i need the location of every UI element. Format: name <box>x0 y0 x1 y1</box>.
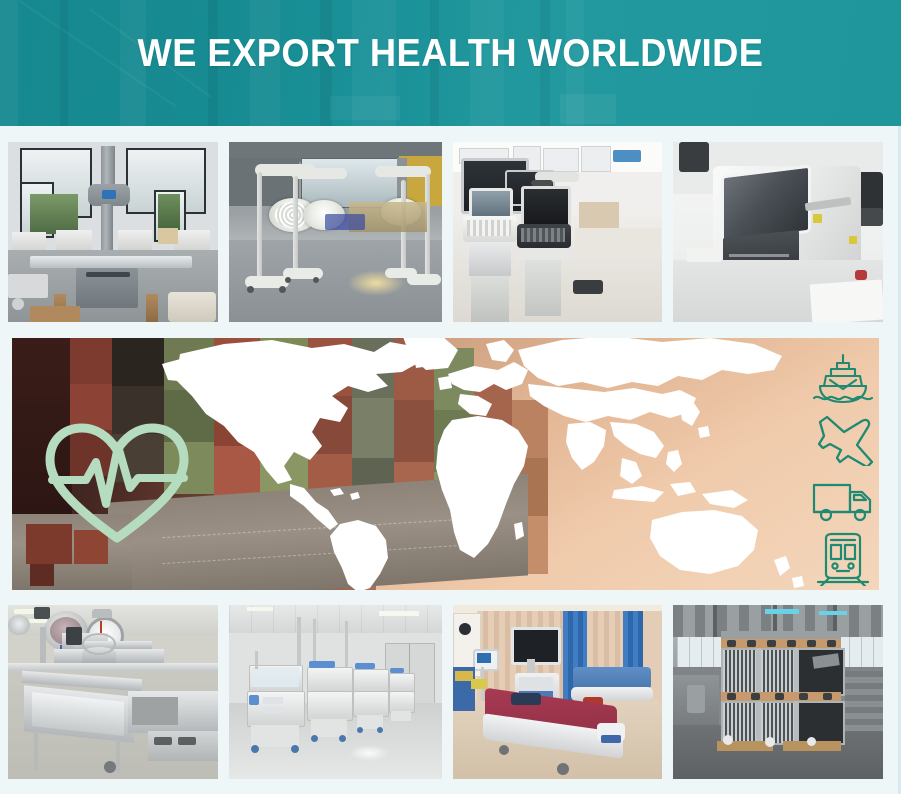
photo-image <box>673 605 883 779</box>
gallery-row-top <box>8 142 893 322</box>
heart-pulse-icon <box>42 420 192 545</box>
photo-image <box>453 605 662 779</box>
ship-icon[interactable] <box>810 352 876 406</box>
airplane-icon[interactable] <box>810 412 876 466</box>
product-detail-page: WE EXPORT HEALTH WORLDWIDE <box>0 0 901 794</box>
gallery-row-bottom <box>8 605 893 779</box>
page-title: WE EXPORT HEALTH WORLDWIDE <box>32 31 870 77</box>
photo-image <box>8 142 218 322</box>
photo-image <box>229 605 442 779</box>
page-header: WE EXPORT HEALTH WORLDWIDE <box>0 0 901 126</box>
transport-icon-group <box>810 352 876 586</box>
train-icon[interactable] <box>810 532 876 586</box>
photo-image <box>673 142 883 322</box>
photo-infant-incubators[interactable] <box>229 605 442 779</box>
header-texture-block <box>330 96 400 120</box>
photo-xray-warehouse[interactable] <box>8 142 218 322</box>
header-texture-block <box>560 94 616 124</box>
world-map-overlay <box>162 338 879 590</box>
photo-lab-analyzer[interactable] <box>673 142 883 322</box>
photo-image <box>8 605 218 779</box>
photo-animal-cages[interactable] <box>673 605 883 779</box>
photo-ultrasound-units[interactable] <box>453 142 662 322</box>
photo-stainless-vet-room[interactable] <box>8 605 218 779</box>
header-texture-stripe <box>0 0 18 126</box>
photo-image <box>229 142 442 322</box>
photo-image <box>453 142 662 322</box>
photo-surgical-lamps[interactable] <box>229 142 442 322</box>
photo-icu-hospital-bed[interactable] <box>453 605 662 779</box>
truck-icon[interactable] <box>810 472 876 526</box>
